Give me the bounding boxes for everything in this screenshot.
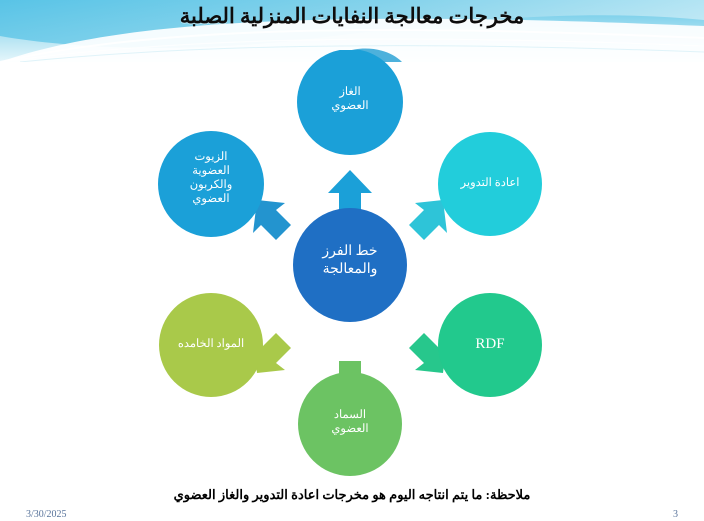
footer-page-number: 3 — [673, 509, 678, 520]
node-inert-materials — [159, 293, 263, 397]
footer-date: 3/30/2025 — [26, 509, 67, 520]
node-rdf — [438, 293, 542, 397]
arrow-up-right-icon — [409, 200, 447, 240]
node-organic-gas — [297, 50, 403, 155]
radial-diagram: خط الفرز والمعالجة الغاز العضوي اعادة ال… — [0, 50, 704, 490]
node-organic-compost — [298, 372, 402, 476]
node-recycling — [438, 132, 542, 236]
page-title: مخرجات معالجة النفايات المنزلية الصلبة — [0, 4, 704, 29]
presentation-slide: مخرجات معالجة النفايات المنزلية الصلبة — [0, 0, 704, 521]
footer-note: ملاحظة: ما يتم انتاجه اليوم هو مخرجات اع… — [0, 487, 704, 503]
node-organic-oils — [158, 131, 264, 237]
node-center-hub — [293, 208, 407, 322]
arrow-up-icon — [328, 170, 372, 212]
